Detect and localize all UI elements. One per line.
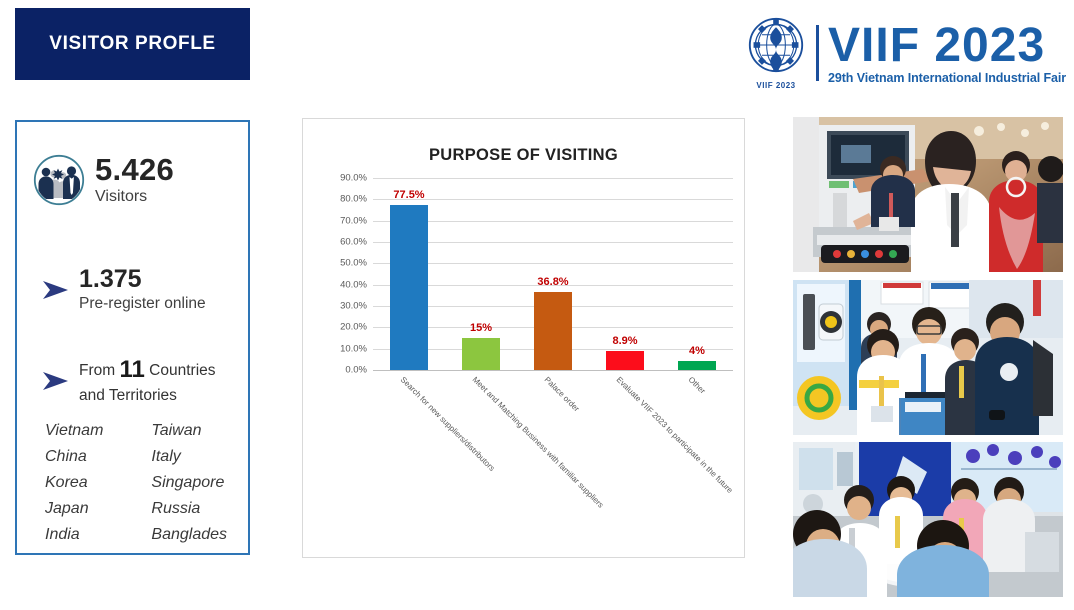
country-item: Japan [45, 496, 103, 522]
logo-tagline: 29th Vietnam International Industrial Fa… [828, 72, 1066, 85]
chart-x-tick-label: Evaluate VIIF 2023 to participate in the… [615, 375, 735, 495]
logo-wordmark: VIIF 2023 [828, 22, 1066, 70]
chart-bar: 8.9% [606, 351, 644, 370]
countries-column-right: Taiwan Italy Singapore Russia Banglades [151, 418, 227, 548]
chart-plot-area: 90.0%80.0%70.0%60.0%50.0%40.0%30.0%20.0%… [373, 178, 733, 370]
chart-bar-slot: 8.9% [589, 178, 661, 370]
chart-y-tick-label: 90.0% [340, 173, 367, 184]
preregister-value: 1.375 [79, 267, 206, 292]
chart-bar-slot: 15% [445, 178, 517, 370]
viif-emblem-caption: VIIF 2023 [745, 81, 807, 90]
chart-bar: 15% [462, 338, 500, 370]
countries-prefix: From [79, 362, 115, 379]
chart-y-tick-label: 40.0% [340, 279, 367, 290]
arrow-right-icon [41, 370, 71, 392]
country-item: India [45, 522, 103, 548]
chart-bar-value-label: 4% [689, 345, 705, 357]
chart-bars: 77.5%15%36.8%8.9%4% [373, 178, 733, 370]
chart-y-tick-label: 80.0% [340, 194, 367, 205]
stat-visitors: 5.426 Visitors [33, 154, 174, 206]
chart-bar-value-label: 8.9% [612, 335, 637, 347]
chart-x-axis-line [373, 370, 733, 371]
viif-emblem-icon: VIIF 2023 [745, 16, 807, 90]
chart-y-tick-label: 60.0% [340, 237, 367, 248]
countries-column-left: Vietnam China Korea Japan India [45, 418, 103, 548]
stat-preregister: 1.375 Pre-register online [41, 267, 206, 313]
chart-bar: 4% [678, 361, 716, 370]
logo-divider [816, 25, 819, 81]
visitors-value: 5.426 [95, 154, 174, 185]
logo-wordmark-block: VIIF 2023 29th Vietnam International Ind… [828, 22, 1066, 85]
arrow-right-icon [41, 279, 71, 301]
chart-bar-value-label: 36.8% [537, 276, 568, 288]
stat-countries-text: From 11 Countries and Territories [79, 354, 216, 407]
page-title-banner: VISITOR PROFLE [15, 8, 250, 80]
countries-list: Vietnam China Korea Japan India Taiwan I… [45, 418, 227, 548]
country-item: Singapore [151, 470, 227, 496]
stat-visitors-text: 5.426 Visitors [95, 154, 174, 206]
chart-y-tick-label: 20.0% [340, 322, 367, 333]
chart-y-tick-label: 50.0% [340, 258, 367, 269]
chart-x-tick-label: Other [687, 375, 708, 396]
chart-y-tick-label: 30.0% [340, 301, 367, 312]
preregister-label: Pre-register online [79, 295, 206, 313]
photo-meeting-table [793, 442, 1063, 597]
people-group-icon [33, 154, 85, 206]
chart-title: PURPOSE OF VISITING [303, 146, 744, 165]
stat-countries: From 11 Countries and Territories [41, 354, 216, 407]
countries-suffix: Countries [149, 362, 215, 379]
countries-line2: and Territories [79, 386, 216, 407]
chart-bar: 36.8% [534, 292, 572, 371]
chart-x-tick-label: Meet and Matching Business with familiar… [471, 375, 606, 510]
country-item: Taiwan [151, 418, 227, 444]
chart-bar: 77.5% [390, 205, 428, 370]
country-item: Banglades [151, 522, 227, 548]
chart-bar-slot: 4% [661, 178, 733, 370]
chart-y-tick-label: 70.0% [340, 215, 367, 226]
viif-logo: VIIF 2023 VIIF 2023 29th Vietnam Interna… [745, 16, 1066, 90]
photo-machine-demo [793, 117, 1063, 272]
chart-bar-slot: 36.8% [517, 178, 589, 370]
chart-y-tick-label: 0.0% [345, 365, 367, 376]
country-item: Korea [45, 470, 103, 496]
chart-bar-slot: 77.5% [373, 178, 445, 370]
country-item: Russia [151, 496, 227, 522]
chart-bar-value-label: 15% [470, 322, 492, 334]
country-item: China [45, 444, 103, 470]
visitors-label: Visitors [95, 188, 174, 206]
page-title: VISITOR PROFLE [49, 33, 215, 55]
photo-booth-visitors [793, 280, 1063, 435]
stats-panel: 5.426 Visitors 1.375 Pre-register online [15, 120, 250, 555]
chart-bar-value-label: 77.5% [393, 189, 424, 201]
countries-count: 11 [119, 356, 144, 383]
country-item: Italy [151, 444, 227, 470]
purpose-of-visiting-chart: PURPOSE OF VISITING 90.0%80.0%70.0%60.0%… [302, 118, 745, 558]
visitor-profile-slide: VISITOR PROFLE [0, 0, 1074, 610]
country-item: Vietnam [45, 418, 103, 444]
chart-x-tick-label: Palace order [543, 375, 581, 413]
stat-preregister-text: 1.375 Pre-register online [79, 267, 206, 313]
chart-y-tick-label: 10.0% [340, 343, 367, 354]
